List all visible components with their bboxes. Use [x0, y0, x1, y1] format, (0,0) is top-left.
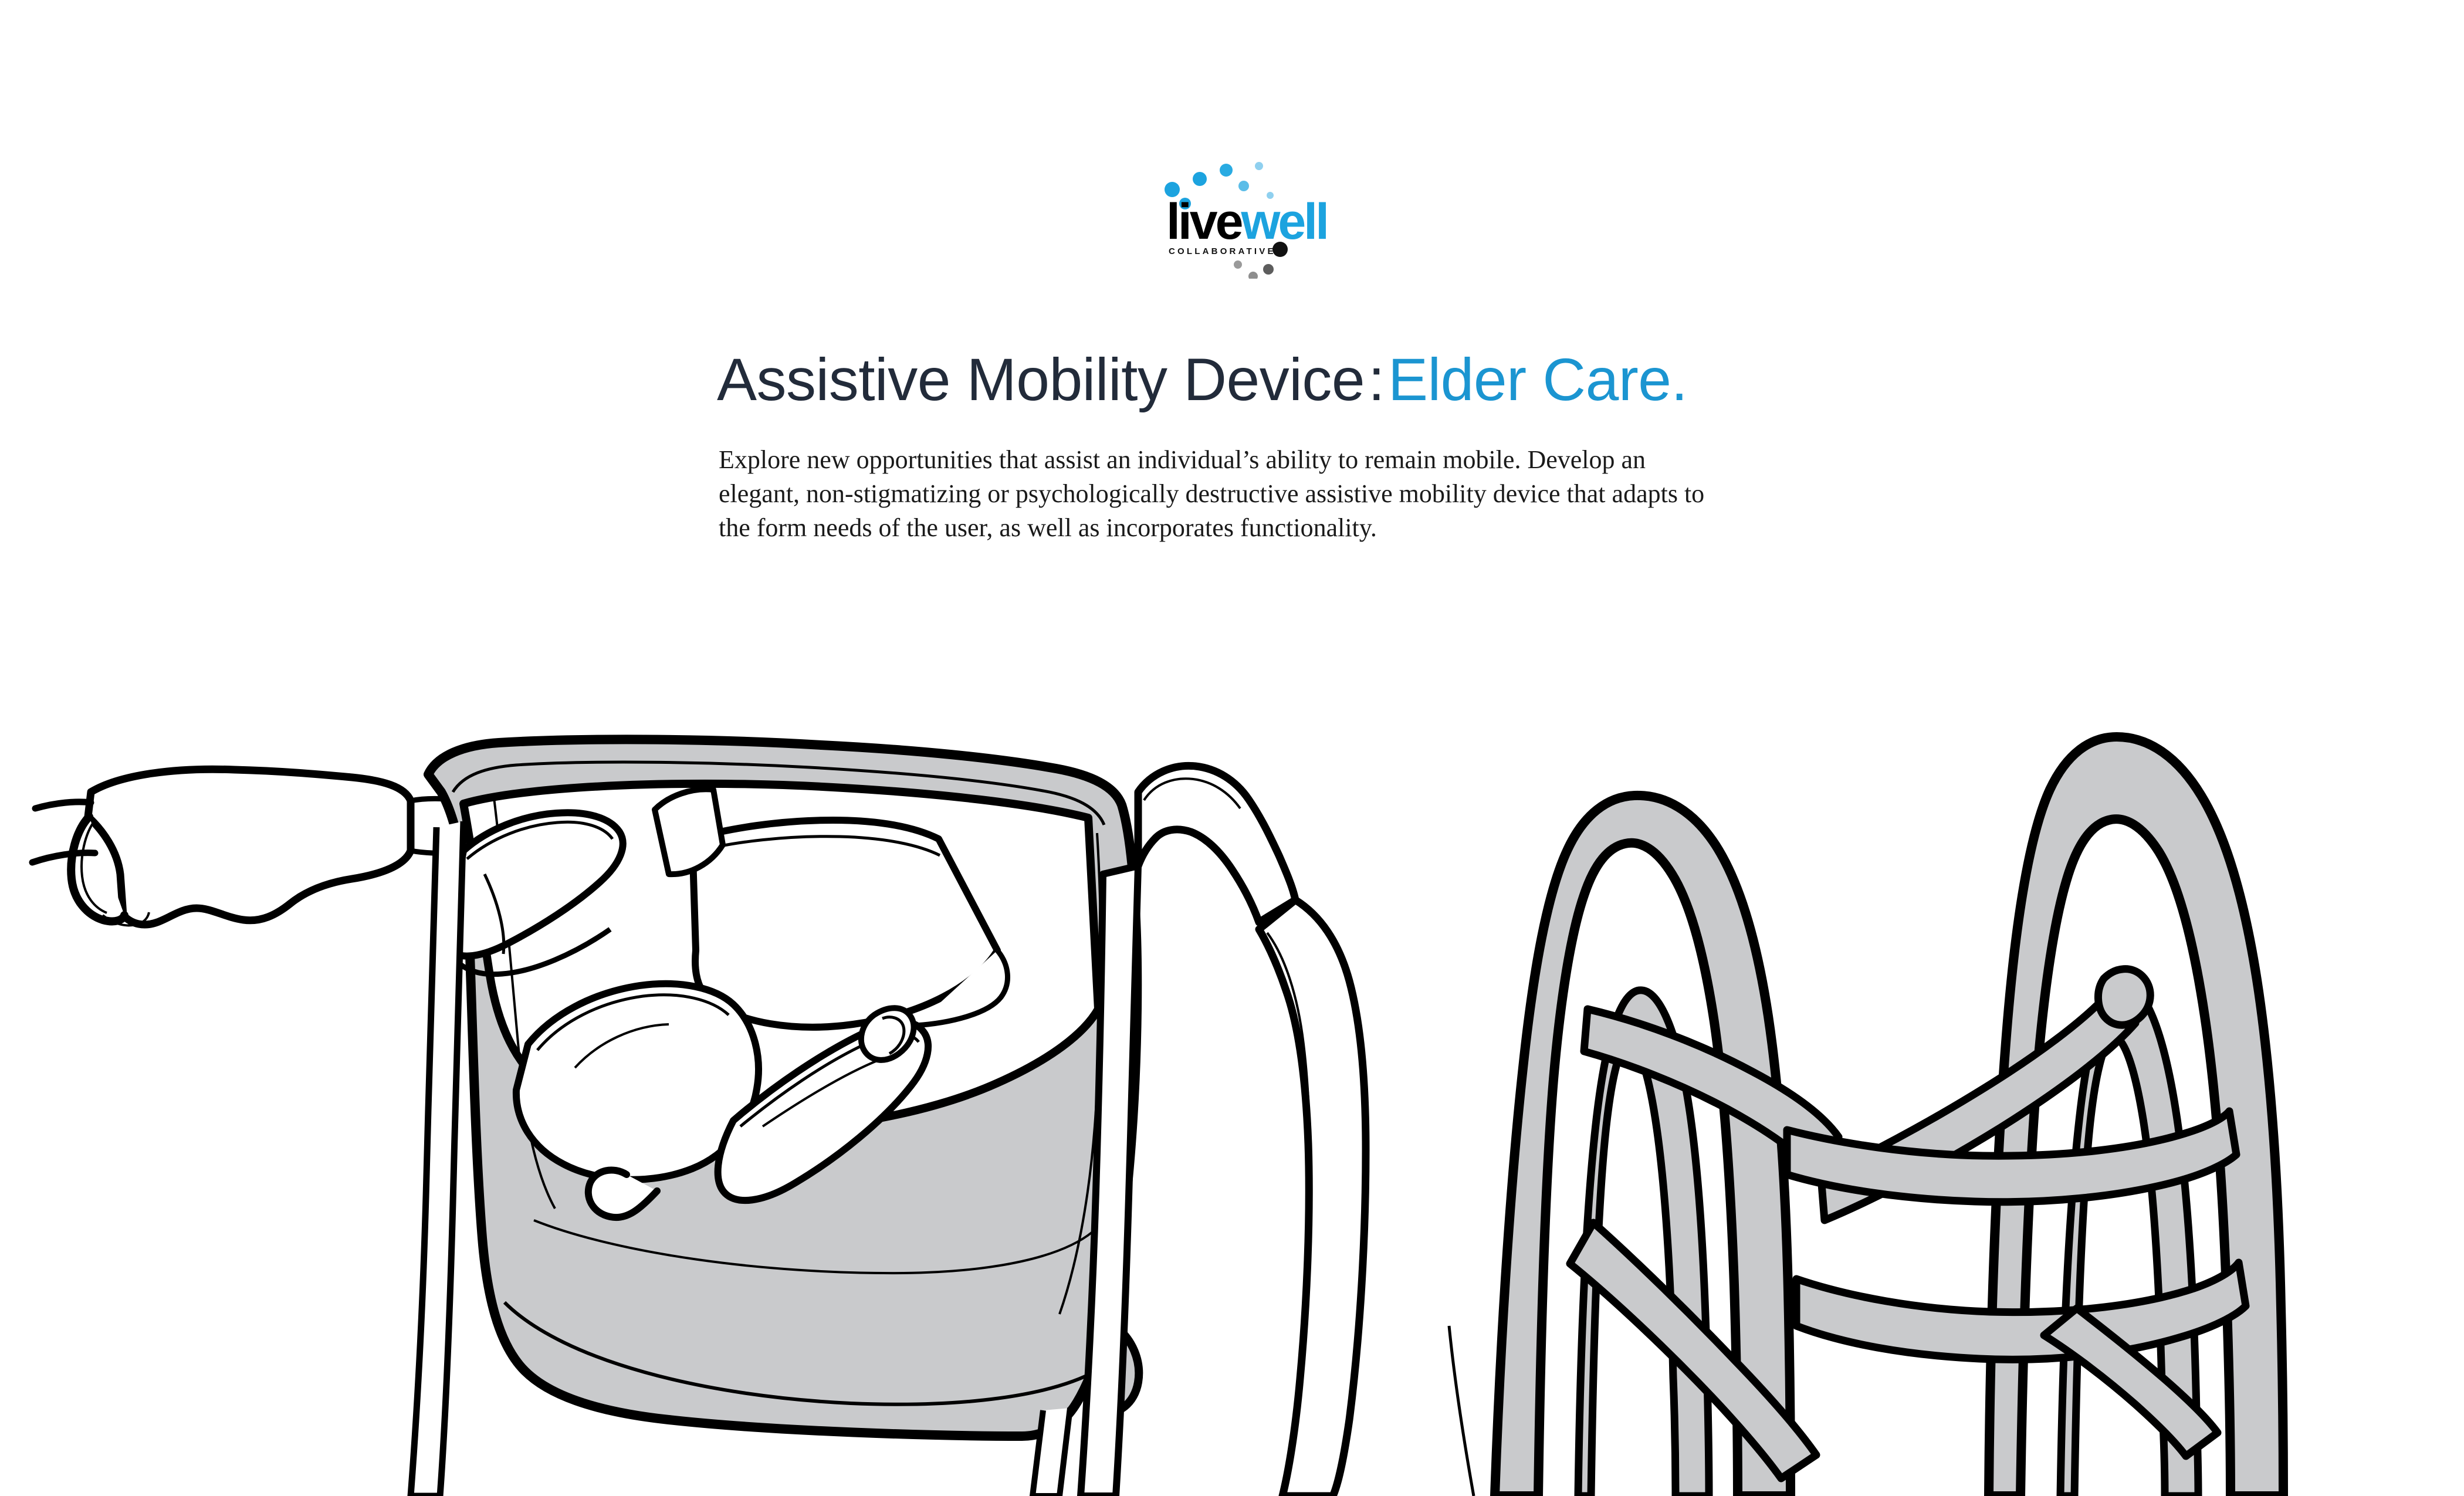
walker-hook-detail: [2098, 969, 2150, 1025]
logo-dot-blue: [1220, 164, 1233, 177]
page-title-primary: Assistive Mobility Device: [717, 346, 1365, 413]
logo-dot-blue-pale: [1255, 162, 1263, 170]
logo-word-well: well: [1240, 194, 1327, 250]
page-description: Explore new opportunities that assist an…: [719, 443, 1716, 545]
logo-dot-gray: [1234, 260, 1242, 269]
logo-svg: livewell COLLABORATIVE: [1150, 161, 1349, 279]
logo-tagline: COLLABORATIVE: [1169, 246, 1276, 256]
assistive-walker-illustration: [0, 598, 2464, 1496]
slide-canvas: livewell COLLABORATIVE Assistive Mobilit…: [0, 0, 2464, 1496]
page-description-paragraph: Explore new opportunities that assist an…: [719, 443, 1716, 545]
livewell-collaborative-logo: livewell COLLABORATIVE: [1150, 161, 1349, 279]
logo-dot-blue-light: [1238, 181, 1249, 191]
logo-dot-gray-dark: [1263, 264, 1274, 275]
logo-wordmark: livewell: [1166, 194, 1327, 250]
page-title: Assistive Mobility Device:Elder Care.: [717, 350, 1687, 409]
logo-word-live: live: [1166, 194, 1242, 250]
logo-dot-black: [1272, 242, 1288, 257]
page-title-separator: :: [1365, 346, 1388, 413]
page-title-accent: Elder Care.: [1388, 346, 1687, 413]
logo-dot-blue: [1193, 172, 1207, 186]
illustration-svg: [0, 598, 2464, 1496]
logo-dot-gray: [1248, 272, 1258, 279]
right-handle-grip: [1081, 766, 1366, 1496]
left-handle-grip: [32, 769, 463, 925]
contour-hint-line: [1449, 1326, 1474, 1496]
